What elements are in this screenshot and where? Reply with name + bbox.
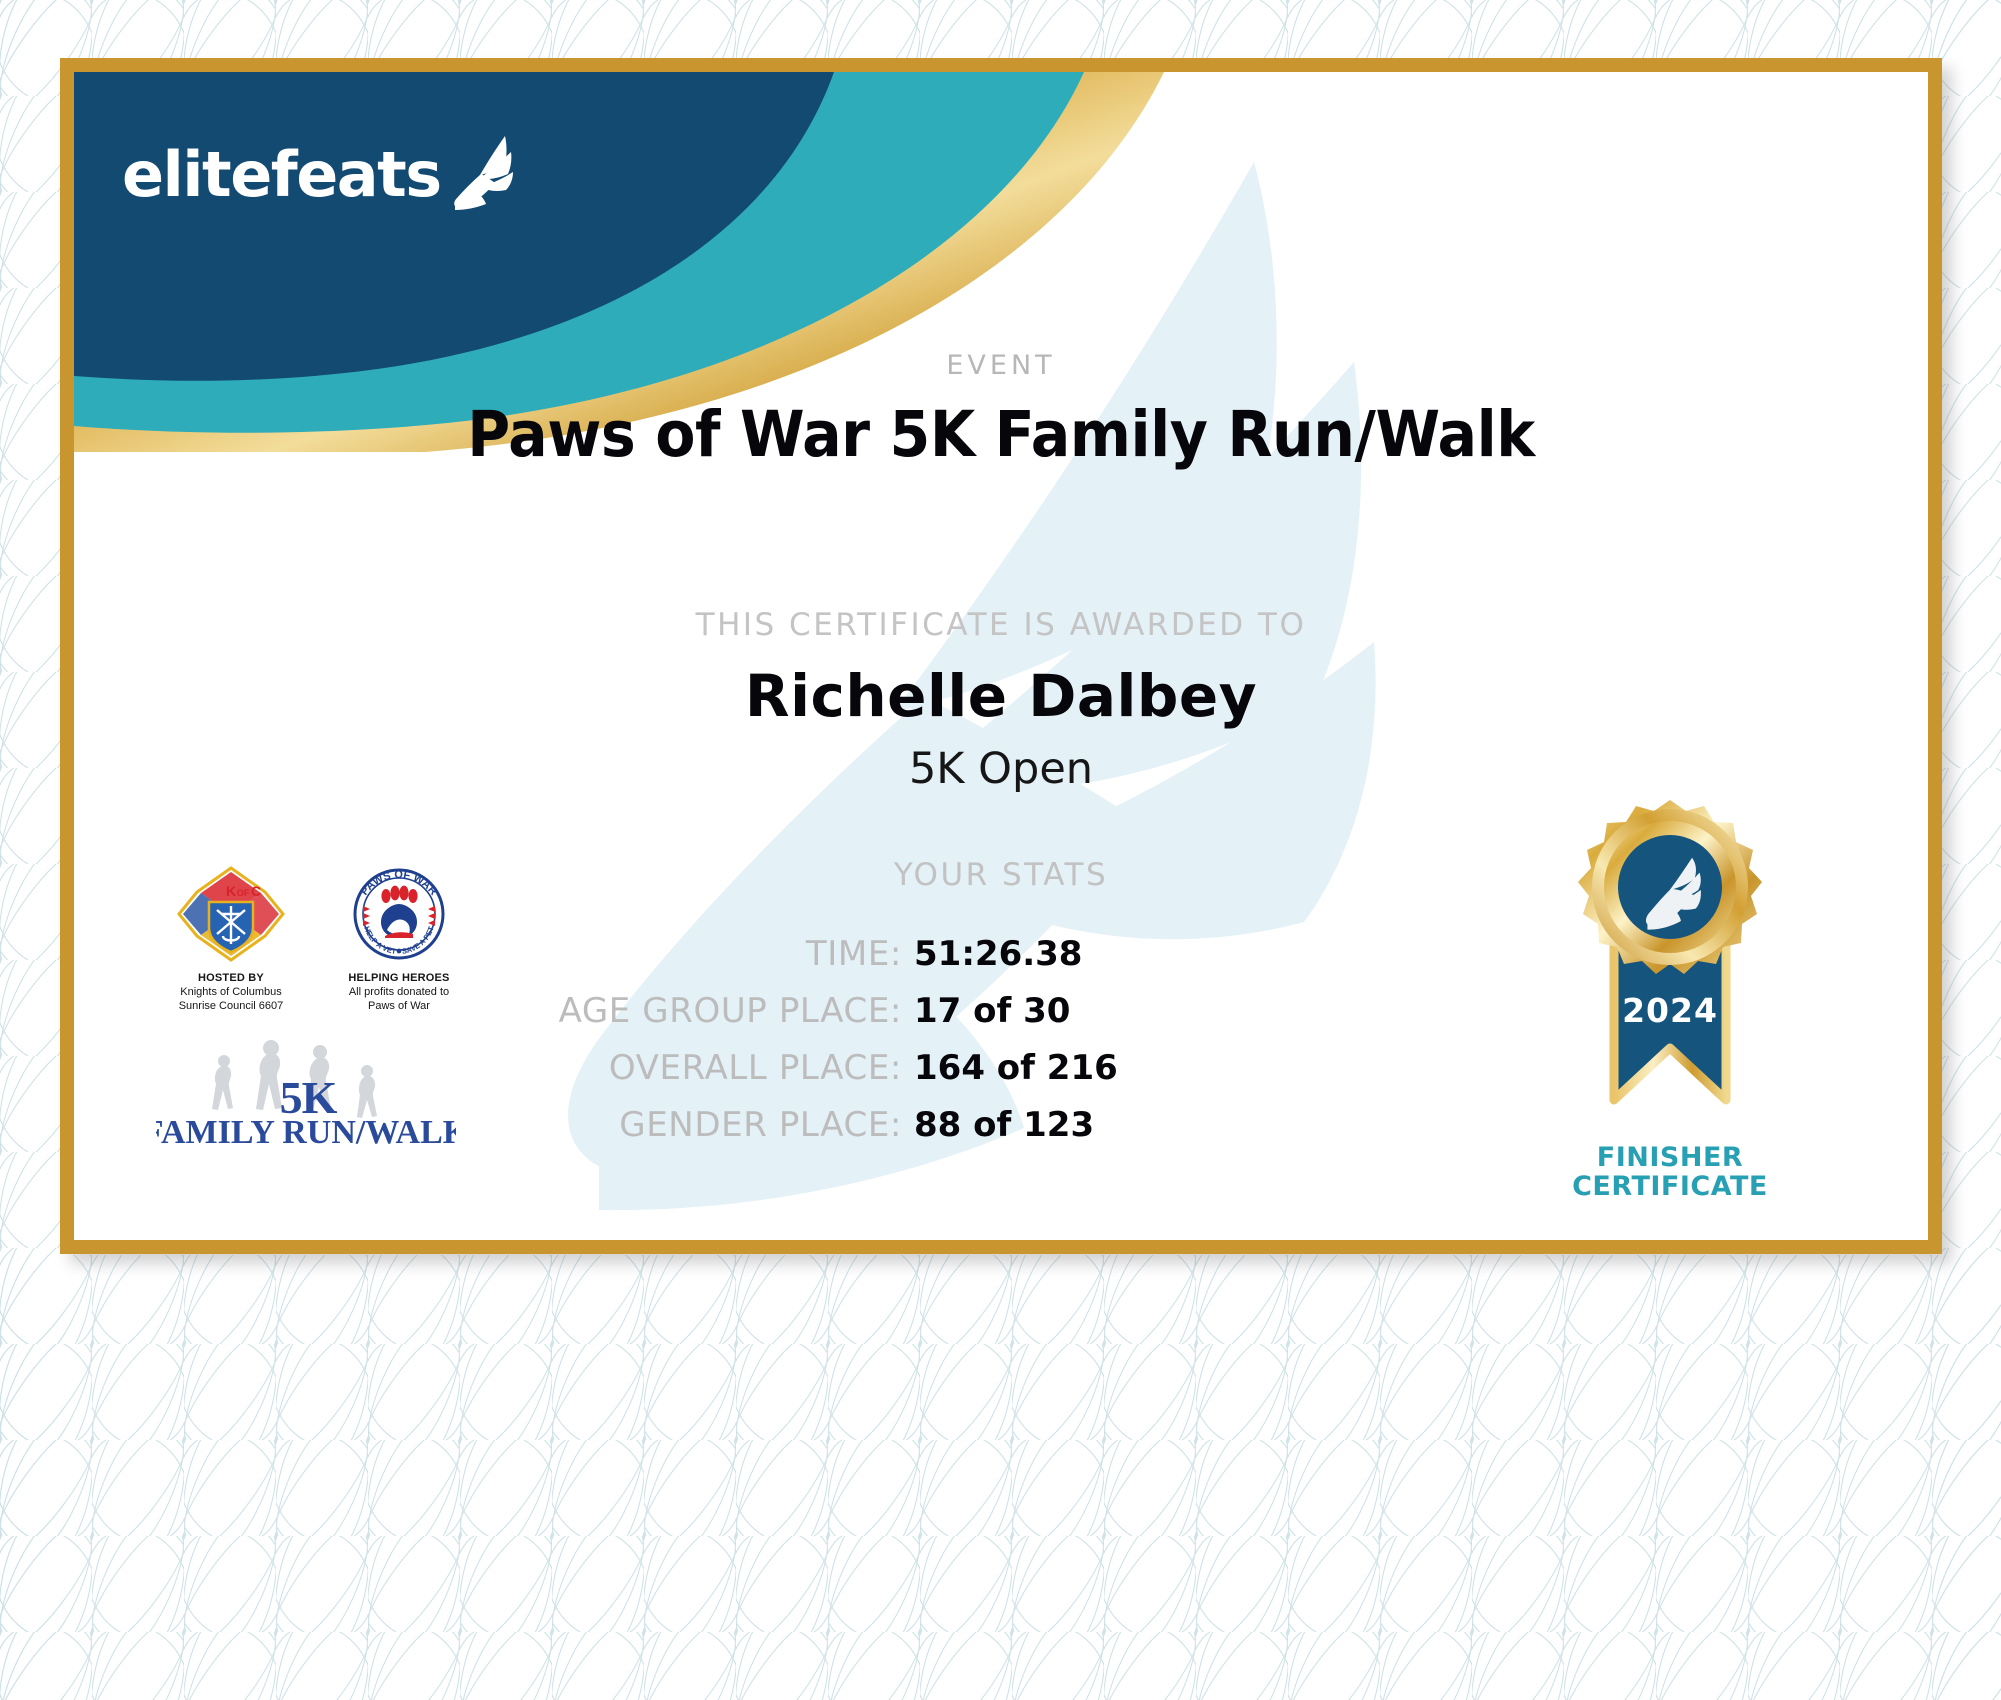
sponsor-caption: HELPING HEROES All profits donated to Pa… xyxy=(324,971,474,1013)
stat-value-gender-place: 88 of 123 xyxy=(914,1105,1094,1145)
stat-value-overall-place: 164 of 216 xyxy=(914,1048,1118,1088)
certificate-page: elitefeats xyxy=(0,0,2001,1700)
sponsor-paws-of-war: PAWS OF WAR HELP A VET · SAVE A PET xyxy=(324,862,474,1013)
sponsor-caption-header: HOSTED BY xyxy=(156,971,306,985)
recipient-division: 5K Open xyxy=(74,744,1928,794)
badge-year-text: 2024 xyxy=(1622,991,1718,1030)
badge-caption-line1: FINISHER xyxy=(1540,1143,1800,1172)
sponsor-logos: K OF C HOSTED BY Knights of Columbus Sun… xyxy=(156,862,476,1154)
sponsor-row: K OF C HOSTED BY Knights of Columbus Sun… xyxy=(156,862,476,1013)
svg-text:C: C xyxy=(251,883,261,899)
paws-of-war-seal-icon: PAWS OF WAR HELP A VET · SAVE A PET xyxy=(341,862,457,966)
awarded-to-label: THIS CERTIFICATE IS AWARDED TO xyxy=(74,607,1928,643)
sponsor-caption-line: Sunrise Council 6607 xyxy=(179,1000,284,1012)
sponsor-caption-header: HELPING HEROES xyxy=(324,971,474,985)
5k-family-run-walk-logo-icon: 5K FAMILY RUN/WALK xyxy=(156,1039,456,1149)
sponsor-caption-line: All profits donated to xyxy=(349,986,449,998)
recipient-name: Richelle Dalbey xyxy=(74,662,1928,730)
badge-caption-line2: CERTIFICATE xyxy=(1540,1172,1800,1201)
svg-text:FAMILY RUN/WALK: FAMILY RUN/WALK xyxy=(156,1114,456,1149)
certificate-inner: elitefeats xyxy=(74,72,1928,1240)
svg-text:OF: OF xyxy=(237,888,250,898)
sponsor-caption-line: Paws of War xyxy=(368,1000,430,1012)
badge-caption: FINISHER CERTIFICATE xyxy=(1540,1143,1800,1201)
finisher-badge: 2024 FINISHER CERTIFICATE xyxy=(1540,800,1800,1201)
sponsor-caption: HOSTED BY Knights of Columbus Sunrise Co… xyxy=(156,971,306,1013)
certificate-frame: elitefeats xyxy=(60,58,1942,1254)
stat-value-time: 51:26.38 xyxy=(914,934,1082,974)
event-title: Paws of War 5K Family Run/Walk xyxy=(139,398,1863,471)
sponsor-knights-of-columbus: K OF C HOSTED BY Knights of Columbus Sun… xyxy=(156,862,306,1013)
sponsor-caption-line: Knights of Columbus xyxy=(180,986,282,998)
stat-value-age-group-place: 17 of 30 xyxy=(914,991,1070,1031)
finisher-medal-ribbon-icon: 2024 xyxy=(1540,800,1800,1130)
event-kicker-label: EVENT xyxy=(74,350,1928,381)
knights-of-columbus-emblem-icon: K OF C xyxy=(173,862,289,966)
svg-text:K: K xyxy=(226,883,236,899)
